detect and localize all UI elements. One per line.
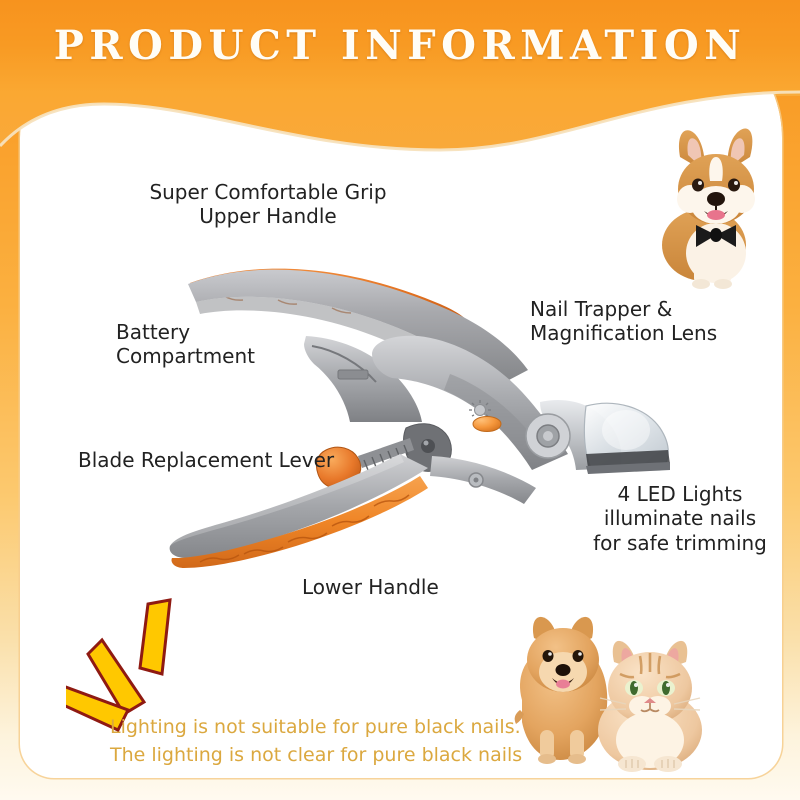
- warning-text: Lighting is not suitable for pure black …: [110, 714, 580, 769]
- pivot-joint: [526, 414, 570, 458]
- callout-lower-handle: Lower Handle: [302, 575, 522, 599]
- lens-highlight: [602, 410, 650, 450]
- product-information-poster: PRODUCT INFORMATION Super Comfortable Gr…: [0, 0, 800, 800]
- ginger-cat: [598, 641, 702, 772]
- burst-wedge-1: [140, 600, 170, 674]
- page-title: PRODUCT INFORMATION: [0, 22, 800, 69]
- battery-latch: [338, 370, 368, 379]
- callout-nail-trapper: Nail Trapper & Magnification Lens: [530, 297, 800, 346]
- callout-led-lights: 4 LED Lights illuminate nails for safe t…: [566, 482, 794, 555]
- callout-upper-handle: Super Comfortable Grip Upper Handle: [128, 180, 408, 229]
- callout-blade-replacement-lever: Blade Replacement Lever: [78, 448, 378, 472]
- power-button[interactable]: [473, 417, 501, 432]
- callout-battery-compartment: Battery Compartment: [116, 320, 336, 369]
- photo-corgi: [632, 113, 782, 293]
